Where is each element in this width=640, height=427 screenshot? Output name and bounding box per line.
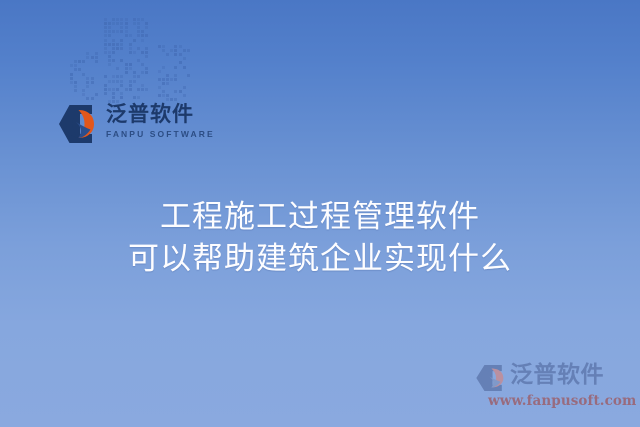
promo-banner: 泛普软件 FANPU SOFTWARE 工程施工过程管理软件 可以帮助建筑企业实… <box>0 0 640 427</box>
pixel-skyline-decoration <box>62 12 192 102</box>
headline-line-1: 工程施工过程管理软件 <box>0 196 640 238</box>
brand-name-cn: 泛普软件 <box>106 100 206 128</box>
fanpu-hexagon-mark-faded-icon <box>474 363 508 393</box>
watermark-brand-name: 泛普软件 <box>510 359 604 391</box>
watermark: 泛普软件 www.fanpusoft.com <box>474 359 626 415</box>
fanpu-hexagon-mark-icon <box>56 102 100 146</box>
headline-line-2: 可以帮助建筑企业实现什么 <box>0 238 640 280</box>
headline: 工程施工过程管理软件 可以帮助建筑企业实现什么 <box>0 196 640 280</box>
brand-logo-wordmark: 泛普软件 FANPU SOFTWARE <box>106 100 206 141</box>
brand-logo: 泛普软件 FANPU SOFTWARE <box>56 100 206 152</box>
brand-name-en: FANPU SOFTWARE <box>106 128 206 141</box>
watermark-url: www.fanpusoft.com <box>488 392 636 410</box>
